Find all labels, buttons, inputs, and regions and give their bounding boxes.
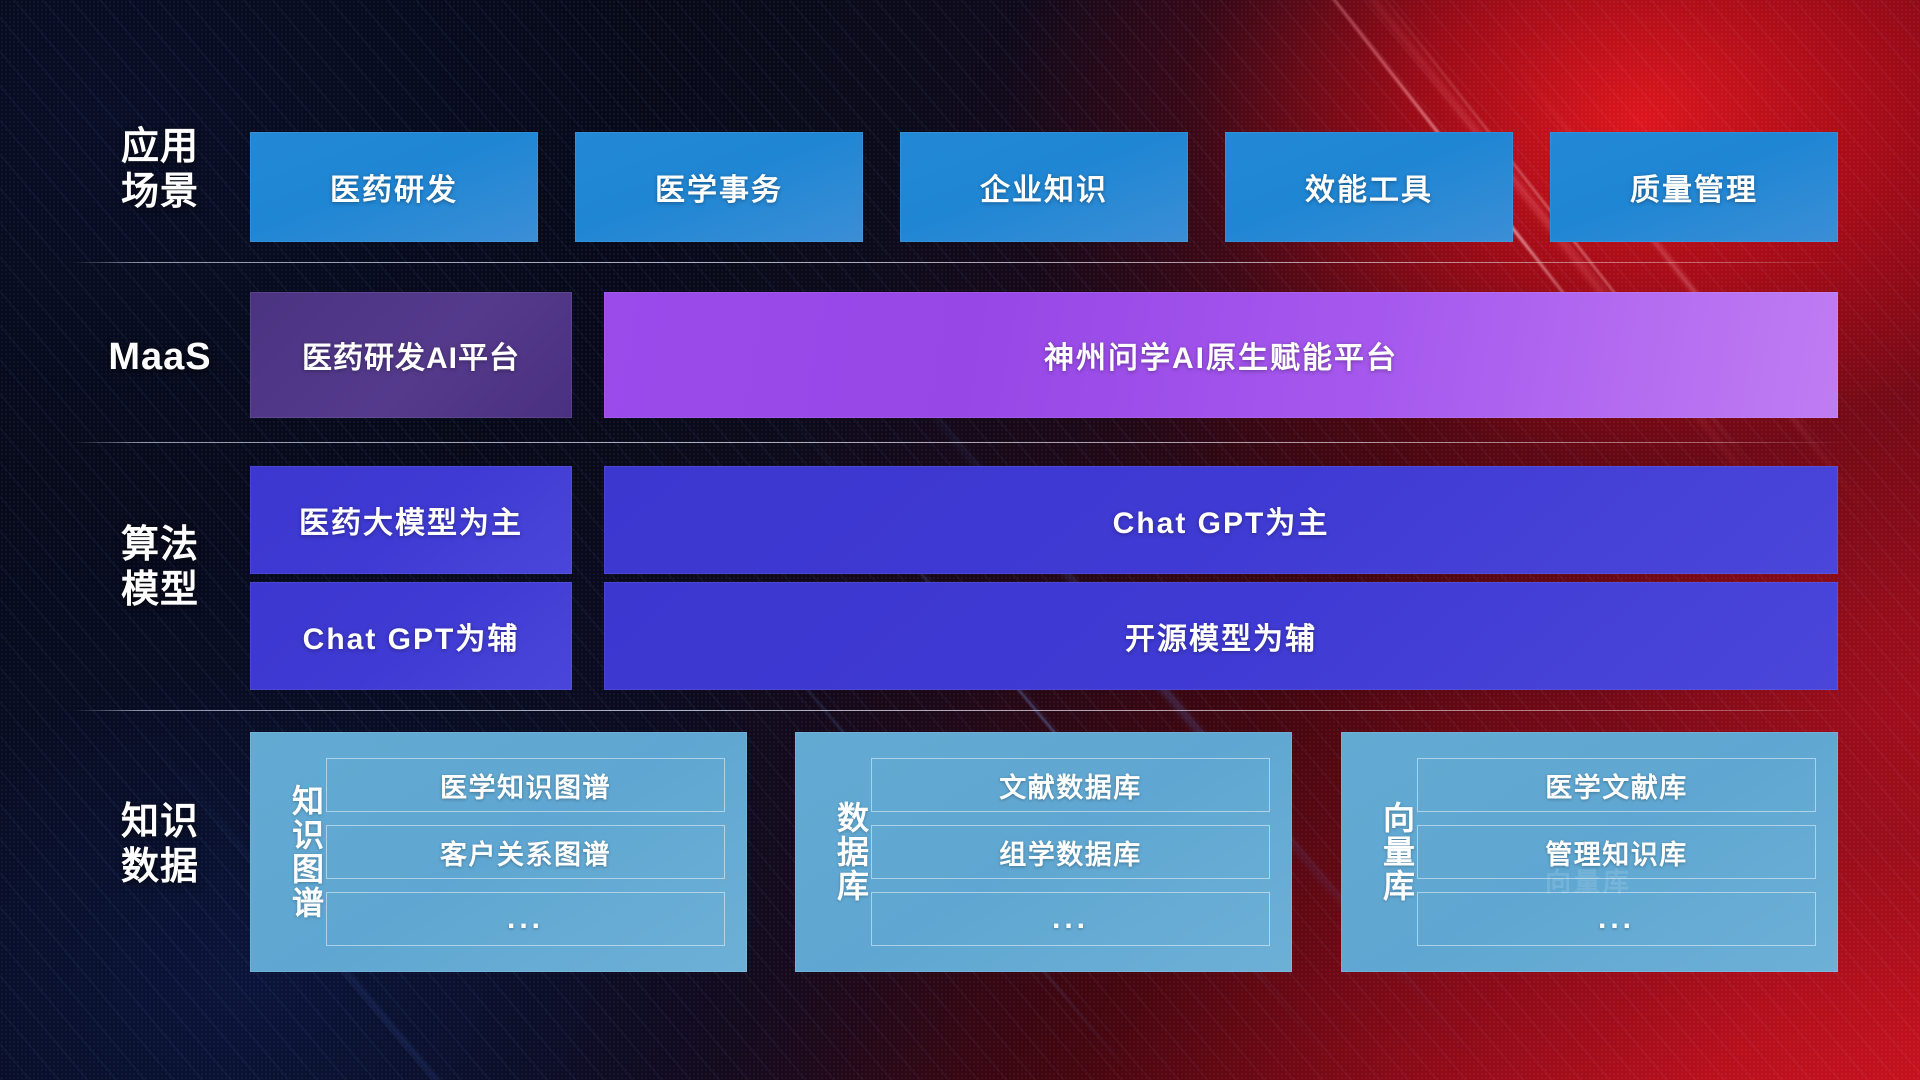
knowledge-item-literature-db[interactable]: 文献数据库 — [871, 758, 1270, 812]
knowledge-item-database-more[interactable]: ... — [871, 892, 1270, 946]
knowledge-panel-graph-title: 知识图谱 — [264, 784, 326, 920]
slide-canvas: 应用 场景 医药研发 医学事务 企业知识 效能工具 质量管理 MaaS 医药研发… — [0, 0, 1920, 1080]
app-tile-medicine-rd[interactable]: 医药研发 — [250, 132, 538, 242]
knowledge-item-management-knowledge[interactable]: 管理知识库 — [1417, 825, 1816, 879]
algo-tile-opensource-secondary[interactable]: 开源模型为辅 — [604, 582, 1838, 690]
row-label-application-line1: 应用 — [60, 125, 260, 170]
app-tile-enterprise-knowledge[interactable]: 企业知识 — [900, 132, 1188, 242]
row-label-knowledge-line2: 数据 — [60, 845, 260, 890]
knowledge-item-vector-more[interactable]: ... — [1417, 892, 1816, 946]
app-tile-quality-management[interactable]: 质量管理 — [1550, 132, 1838, 242]
knowledge-item-medical-graph[interactable]: 医学知识图谱 — [326, 758, 725, 812]
row-label-algorithm-line2: 模型 — [60, 568, 260, 613]
divider-maas-algorithm — [72, 442, 1848, 443]
divider-algorithm-knowledge — [72, 710, 1848, 711]
knowledge-panel-vector-store-title: 向量库 — [1355, 801, 1417, 903]
algo-tile-chatgpt-primary[interactable]: Chat GPT为主 — [604, 466, 1838, 574]
knowledge-item-medical-literature[interactable]: 医学文献库 — [1417, 758, 1816, 812]
knowledge-panel-vector-store[interactable]: 向量库 医学文献库 管理知识库 ... — [1341, 732, 1838, 972]
maas-tile-medicine-ai-platform[interactable]: 医药研发AI平台 — [250, 292, 572, 418]
row-label-application-line2: 场景 — [60, 170, 260, 215]
algo-tile-medicine-large-model-primary[interactable]: 医药大模型为主 — [250, 466, 572, 574]
knowledge-item-omics-db[interactable]: 组学数据库 — [871, 825, 1270, 879]
knowledge-panel-database-title: 数据库 — [809, 801, 871, 903]
row-label-algorithm-line1: 算法 — [60, 523, 260, 568]
maas-tile-shenzhou-wenxue-platform[interactable]: 神州问学AI原生赋能平台 — [604, 292, 1838, 418]
row-label-knowledge: 知识 数据 — [60, 800, 260, 890]
knowledge-panel-vector-store-items: 医学文献库 管理知识库 ... — [1417, 758, 1816, 946]
row-label-algorithm: 算法 模型 — [60, 523, 260, 613]
diagram-content: 应用 场景 医药研发 医学事务 企业知识 效能工具 质量管理 MaaS 医药研发… — [0, 0, 1920, 1080]
knowledge-item-customer-graph[interactable]: 客户关系图谱 — [326, 825, 725, 879]
row-label-maas-text: MaaS — [108, 336, 211, 378]
row-label-maas: MaaS — [60, 335, 260, 380]
knowledge-item-graph-more[interactable]: ... — [326, 892, 725, 946]
app-tile-efficiency-tools[interactable]: 效能工具 — [1225, 132, 1513, 242]
knowledge-panel-graph[interactable]: 知识图谱 医学知识图谱 客户关系图谱 ... — [250, 732, 747, 972]
row-label-knowledge-line1: 知识 — [60, 800, 260, 845]
app-tile-medical-affairs[interactable]: 医学事务 — [575, 132, 863, 242]
algo-tile-chatgpt-secondary[interactable]: Chat GPT为辅 — [250, 582, 572, 690]
knowledge-panel-database[interactable]: 数据库 文献数据库 组学数据库 ... — [795, 732, 1292, 972]
row-label-application: 应用 场景 — [60, 125, 260, 215]
knowledge-panel-graph-items: 医学知识图谱 客户关系图谱 ... — [326, 758, 725, 946]
divider-application-maas — [72, 262, 1848, 263]
knowledge-panel-database-items: 文献数据库 组学数据库 ... — [871, 758, 1270, 946]
